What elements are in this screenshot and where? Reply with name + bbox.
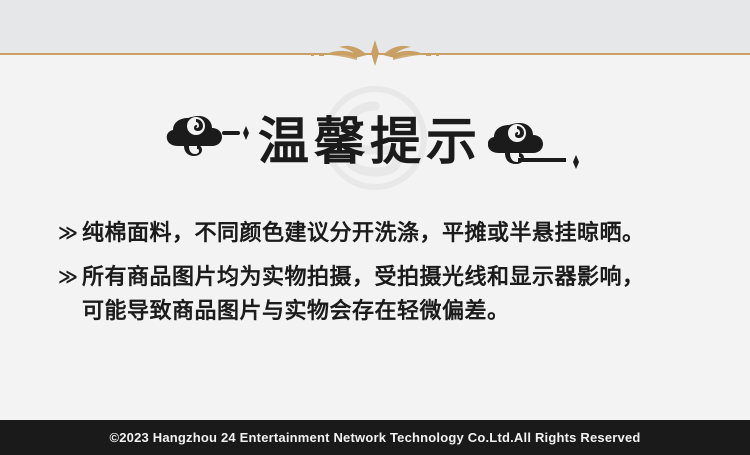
wing-flourish-divider-icon (275, 36, 475, 70)
note-lines: 所有商品图片均为实物拍摄，受拍摄光线和显示器影响， 可能导致商品图片与实物会存在… (82, 260, 708, 328)
cloud-left-icon (166, 104, 252, 162)
title-row: 温馨提示 (0, 82, 750, 192)
note-line: 可能导致商品图片与实物会存在轻微偏差。 (82, 294, 708, 328)
copyright-text: ©2023 Hangzhou 24 Entertainment Network … (109, 430, 640, 445)
bullet-marker-icon: ≫ (58, 260, 82, 294)
footer-bar: ©2023 Hangzhou 24 Entertainment Network … (0, 420, 750, 455)
list-item: ≫ 纯棉面料，不同颜色建议分开洗涤，平摊或半悬挂晾晒。 (58, 216, 708, 250)
notes-list: ≫ 纯棉面料，不同颜色建议分开洗涤，平摊或半悬挂晾晒。 ≫ 所有商品图片均为实物… (58, 216, 708, 338)
page-title: 温馨提示 (258, 100, 482, 174)
list-item: ≫ 所有商品图片均为实物拍摄，受拍摄光线和显示器影响， 可能导致商品图片与实物会… (58, 260, 708, 328)
note-lines: 纯棉面料，不同颜色建议分开洗涤，平摊或半悬挂晾晒。 (82, 216, 708, 250)
note-line: 所有商品图片均为实物拍摄，受拍摄光线和显示器影响， (82, 260, 708, 294)
note-line: 纯棉面料，不同颜色建议分开洗涤，平摊或半悬挂晾晒。 (82, 216, 708, 250)
tips-banner-page: 温馨提示 ≫ 纯棉面料，不同颜色建议分开洗涤，平摊 (0, 0, 750, 455)
bullet-marker-icon: ≫ (58, 216, 82, 250)
title-zone: 温馨提示 (0, 82, 750, 192)
cloud-right-icon (488, 115, 584, 173)
